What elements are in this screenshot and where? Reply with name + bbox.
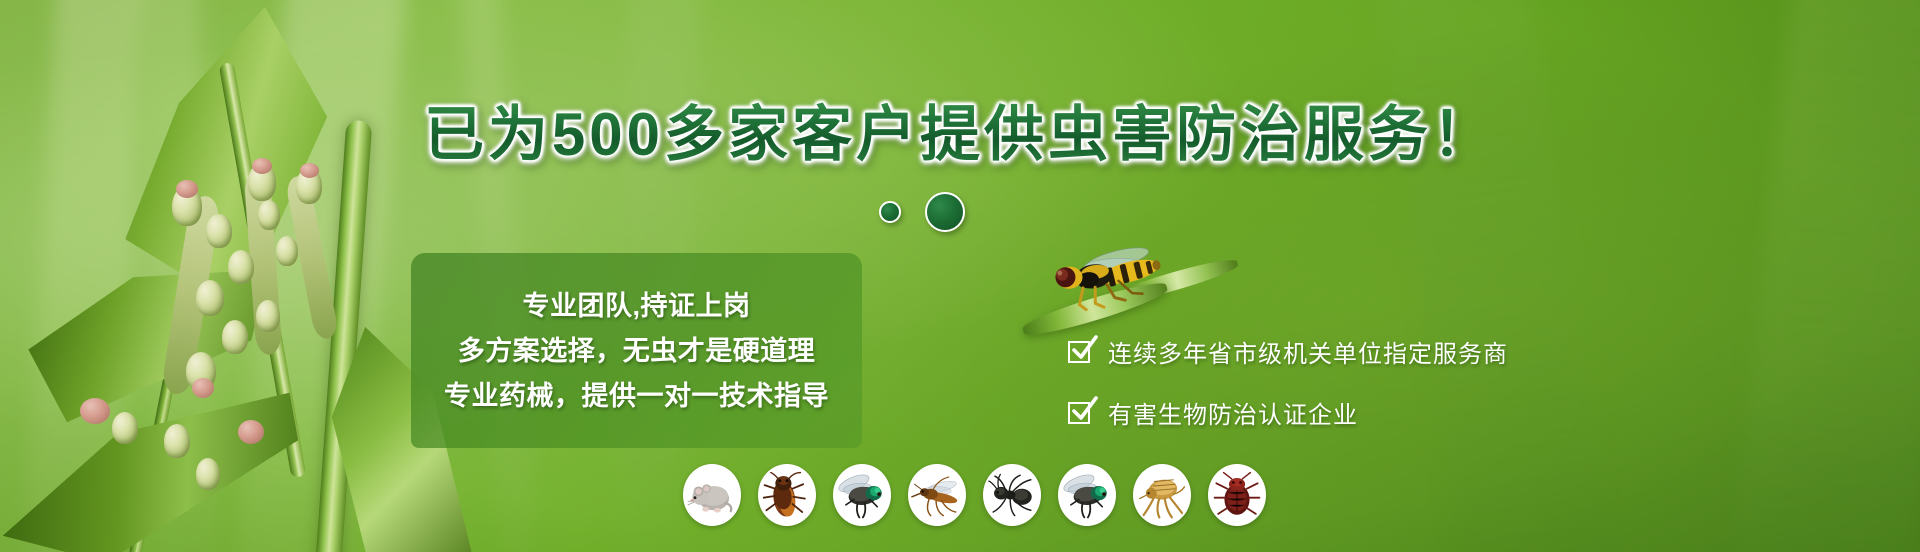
flea-icon[interactable] <box>1133 464 1191 526</box>
checklist-item-label: 连续多年省市级机关单位指定服务商 <box>1108 334 1508 369</box>
cockroach-icon[interactable] <box>758 464 816 526</box>
pest-icon-row <box>683 464 1266 526</box>
promo-banner: 已为500多家客户提供虫害防治服务！ 专业团队,持证上岗 多方案选择，无虫才是硬… <box>0 0 1920 552</box>
selling-points-panel: 专业团队,持证上岗 多方案选择，无虫才是硬道理 专业药械，提供一对一技术指导 <box>411 253 862 448</box>
mosquito-icon[interactable] <box>908 464 966 526</box>
decorative-dot-small <box>879 201 901 223</box>
housefly-icon[interactable] <box>833 464 891 526</box>
decorative-dot-large <box>925 192 965 232</box>
checklist-item: 有害生物防治认证企业 <box>1068 395 1508 430</box>
bedbug-icon[interactable] <box>1208 464 1266 526</box>
checkbox-checked-icon <box>1068 339 1094 365</box>
decorative-dots <box>879 192 965 232</box>
blowfly-icon[interactable] <box>1058 464 1116 526</box>
checkbox-checked-icon <box>1068 400 1094 426</box>
banner-headline: 已为500多家客户提供虫害防治服务！ <box>0 86 1920 173</box>
checklist-item: 连续多年省市级机关单位指定服务商 <box>1068 334 1508 369</box>
selling-point-line: 专业药械，提供一对一技术指导 <box>444 374 829 413</box>
checklist-item-label: 有害生物防治认证企业 <box>1108 395 1358 430</box>
ant-icon[interactable] <box>983 464 1041 526</box>
selling-point-line: 专业团队,持证上岗 <box>522 284 750 323</box>
selling-point-line: 多方案选择，无虫才是硬道理 <box>458 329 816 368</box>
credentials-checklist: 连续多年省市级机关单位指定服务商 有害生物防治认证企业 <box>1068 334 1508 430</box>
rodent-mouse-icon[interactable] <box>683 464 741 526</box>
